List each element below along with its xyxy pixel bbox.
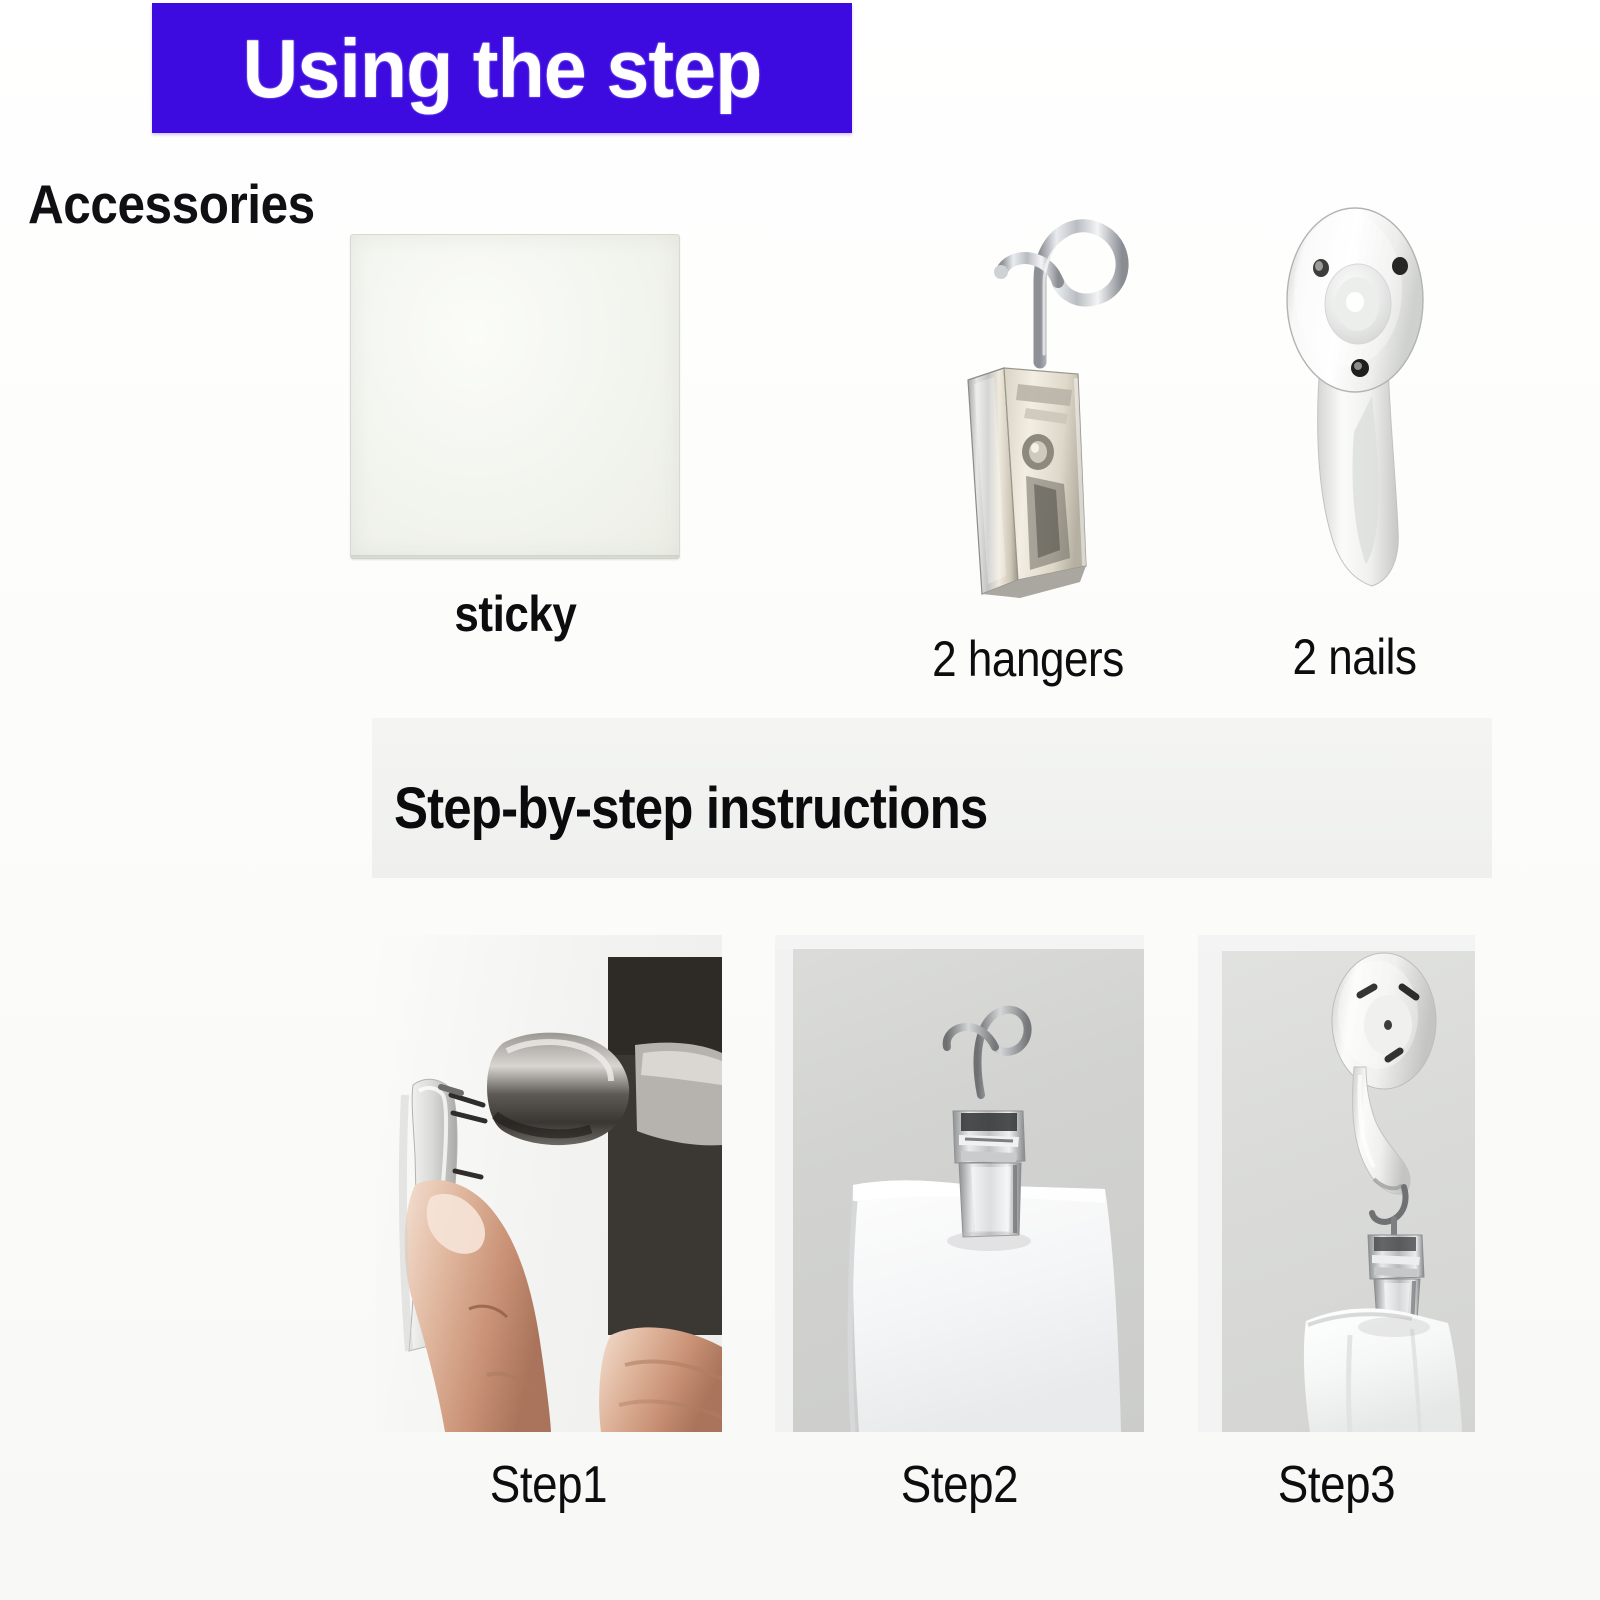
step-item-2: Step2	[775, 935, 1144, 1432]
step-3-image	[1198, 935, 1475, 1432]
accessory-item-sticky: sticky	[350, 234, 680, 643]
step-1-image	[375, 935, 722, 1432]
accessory-item-nails: 2 nails	[1250, 182, 1460, 686]
wall-hook-nail-icon	[1250, 182, 1460, 602]
clip-hanger-icon	[908, 184, 1148, 604]
accessories-heading: Accessories	[28, 172, 315, 236]
accessory-label-hangers: 2 hangers	[932, 630, 1124, 688]
step-item-1: Step1	[375, 935, 722, 1432]
accessory-item-hangers: 2 hangers	[908, 184, 1148, 688]
accessories-row: sticky	[330, 200, 1510, 680]
page-title: Using the step	[243, 27, 762, 110]
step-item-3: Step3	[1198, 935, 1475, 1432]
step-2-image	[775, 935, 1144, 1432]
instructions-heading: Step-by-step instructions	[394, 775, 987, 842]
step-label-2: Step2	[797, 1455, 1122, 1515]
adhesive-pad-icon	[350, 234, 680, 559]
step-label-3: Step3	[1215, 1455, 1459, 1515]
accessory-label-sticky: sticky	[454, 585, 576, 643]
accessory-label-nails: 2 nails	[1293, 628, 1417, 686]
step-label-1: Step1	[396, 1455, 701, 1515]
steps-row: Step1	[375, 935, 1475, 1432]
title-banner: Using the step	[152, 3, 852, 133]
